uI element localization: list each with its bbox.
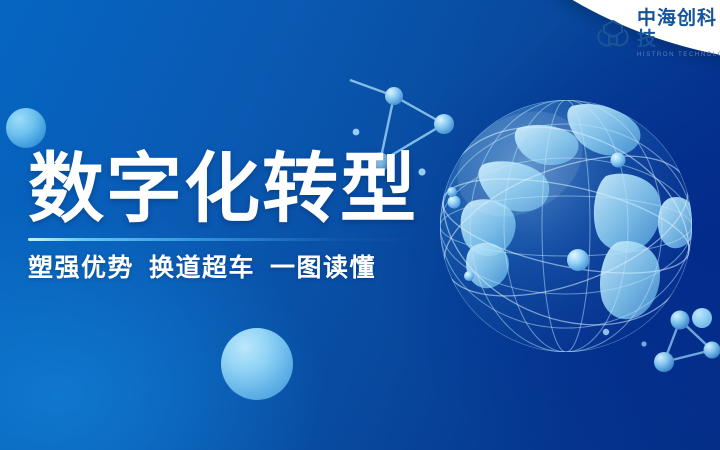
hero-subtitle: 塑强优势换道超车一图读懂 — [28, 253, 425, 283]
interlocking-hexagon-logo-icon — [596, 17, 630, 51]
page-title: 数字化转型 — [28, 150, 425, 228]
subtitle-part-2: 换道超车 — [149, 253, 255, 282]
company-logo[interactable]: 中海创科技 HISTRON TECHNOLOGY — [596, 8, 720, 59]
title-divider — [28, 238, 425, 241]
logo-text-block: 中海创科技 HISTRON TECHNOLOGY — [637, 8, 720, 59]
digital-transformation-banner: 中海创科技 HISTRON TECHNOLOGY 数字化转型 塑强优势换道超车一… — [0, 0, 720, 450]
network-triangle-bottom-right — [638, 288, 720, 400]
subtitle-part-3: 一图读懂 — [270, 253, 376, 282]
decorative-sphere-top-left — [6, 108, 46, 148]
decorative-sphere-bottom-left — [221, 328, 293, 400]
hero-text-block: 数字化转型 塑强优势换道超车一图读懂 — [28, 150, 425, 283]
subtitle-part-1: 塑强优势 — [28, 253, 134, 282]
logo-company-name-cn: 中海创科技 — [637, 8, 720, 50]
logo-company-name-en: HISTRON TECHNOLOGY — [637, 50, 720, 59]
